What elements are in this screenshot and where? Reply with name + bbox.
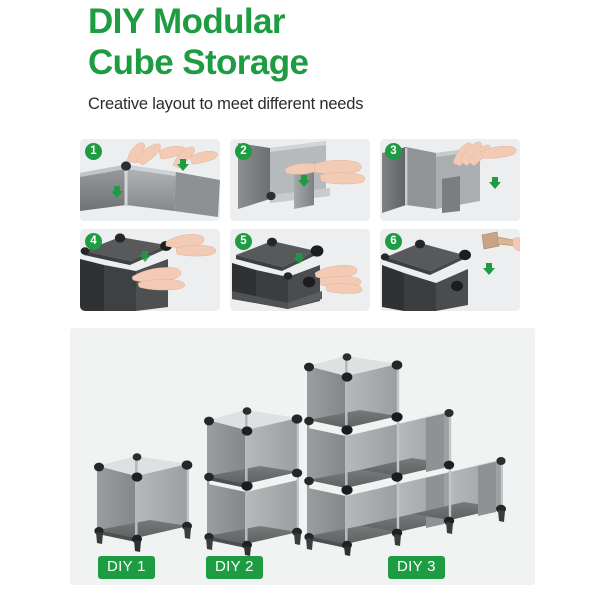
diy-label-3: DIY 3 bbox=[388, 556, 445, 579]
showcase-unit-diy-3 bbox=[298, 342, 530, 556]
step-badge-1: 1 bbox=[85, 143, 102, 160]
diy-1-illustration bbox=[92, 446, 200, 554]
diy-label-2: DIY 2 bbox=[206, 556, 263, 579]
step-panel-3: 3 bbox=[380, 139, 520, 221]
step-panel-5: 5 bbox=[230, 229, 370, 311]
header: DIY Modular Cube Storage Creative layout… bbox=[88, 2, 568, 114]
showcase-unit-diy-2 bbox=[200, 398, 310, 556]
diy-label-1: DIY 1 bbox=[98, 556, 155, 579]
showcase-unit-diy-1 bbox=[92, 446, 200, 554]
step-badge-5: 5 bbox=[235, 233, 252, 250]
step-badge-2: 2 bbox=[235, 143, 252, 160]
step-badge-6: 6 bbox=[385, 233, 402, 250]
step-badge-3: 3 bbox=[385, 143, 402, 160]
product-showcase-panel: DIY 1 bbox=[70, 328, 535, 585]
assembly-steps-grid: 1 bbox=[80, 139, 520, 311]
step-badge-4: 4 bbox=[85, 233, 102, 250]
diy-3-illustration bbox=[298, 342, 530, 556]
step-panel-4: 4 bbox=[80, 229, 220, 311]
step-panel-6: 6 bbox=[380, 229, 520, 311]
step-panel-1: 1 bbox=[80, 139, 220, 221]
page-subtitle: Creative layout to meet different needs bbox=[88, 83, 568, 114]
page-title-line-2: Cube Storage bbox=[88, 43, 568, 84]
diy-2-illustration bbox=[200, 398, 310, 556]
step-panel-2: 2 bbox=[230, 139, 370, 221]
page-title: DIY Modular Cube Storage bbox=[88, 2, 568, 83]
page-title-line-1: DIY Modular bbox=[88, 2, 568, 43]
